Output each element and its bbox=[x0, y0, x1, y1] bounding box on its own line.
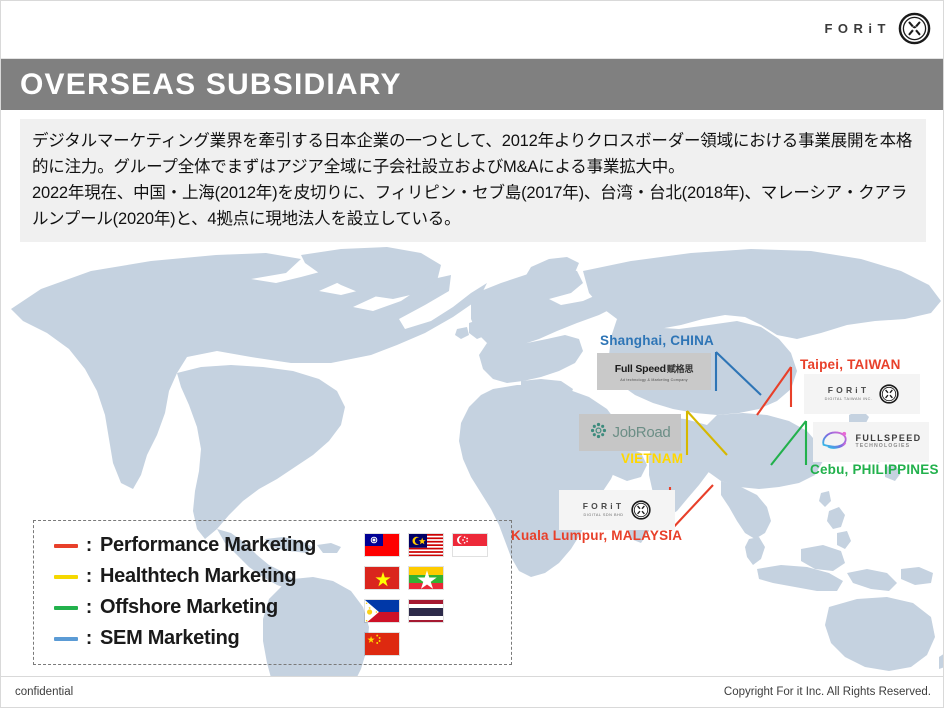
legend-separator: : bbox=[78, 535, 100, 557]
fullspeed-tech-subtitle: TECHNOLOGIES bbox=[855, 444, 921, 449]
flag-slot-empty bbox=[452, 632, 488, 656]
flag-slot-empty bbox=[408, 632, 444, 656]
brand-word-t: T bbox=[878, 22, 891, 35]
brand-wordmark: FORiT bbox=[824, 22, 891, 35]
legend-separator: : bbox=[78, 597, 100, 619]
legend-separator: : bbox=[78, 628, 100, 650]
logo-card-forit-taiwan: FORiT DIGITAL TAIWAN INC. bbox=[804, 374, 920, 414]
callout-label-shanghai: Shanghai, CHINA bbox=[600, 333, 714, 348]
fullspeed-swoosh-icon bbox=[820, 428, 850, 456]
page-title: OVERSEAS SUBSIDIARY bbox=[1, 68, 402, 102]
callout-label-taipei: Taipei, TAIWAN bbox=[800, 357, 901, 372]
vietnam-flag-icon bbox=[364, 566, 400, 590]
callout-label-vietnam: VIETNAM bbox=[621, 451, 683, 466]
malaysia-flag-icon bbox=[408, 533, 444, 557]
legend-dash-green bbox=[54, 606, 78, 610]
jobroad-wordmark: JobRoad bbox=[613, 424, 671, 441]
forit-circle-mark-icon bbox=[898, 12, 931, 45]
singapore-flag-icon bbox=[452, 533, 488, 557]
forit-taiwan-subtitle: DIGITAL TAIWAN INC. bbox=[825, 398, 873, 402]
forit-circle-mark-icon bbox=[879, 384, 899, 404]
flag-slot-empty bbox=[452, 566, 488, 590]
brand-word-for: FOR bbox=[824, 22, 868, 35]
legend-flag-grid bbox=[364, 533, 490, 661]
logo-card-full-speed: Full Speed赋格思 Ad technology & Marketing … bbox=[597, 353, 711, 390]
full-speed-cn-name: 赋格思 bbox=[667, 365, 693, 374]
legend-label: SEM Marketing bbox=[100, 627, 239, 650]
forit-malaysia-wordmark: FORiT bbox=[583, 502, 625, 511]
slide-footer: confidential Copyright For it Inc. All R… bbox=[1, 676, 944, 707]
logo-card-forit-malaysia: FORiT DIGITAL SDN BHD bbox=[559, 490, 675, 530]
footer-copyright-label: Copyright For it Inc. All Rights Reserve… bbox=[724, 686, 931, 698]
callout-label-malaysia: Kuala Lumpur, MALAYSIA bbox=[511, 528, 682, 543]
legend-dash-blue bbox=[54, 637, 78, 641]
leader-malaysia-line bbox=[670, 485, 713, 531]
legend-dash-red bbox=[54, 544, 78, 548]
callout-label-cebu: Cebu, PHILIPPINES bbox=[810, 462, 939, 477]
philippines-flag-icon bbox=[364, 599, 400, 623]
legend-box: : Performance Marketing : Healthtech Mar… bbox=[33, 520, 512, 665]
lead-paragraph: デジタルマーケティング業界を牽引する日本企業の一つとして、2012年よりクロスボ… bbox=[20, 119, 926, 242]
slide-canvas: FORiT OVERSEAS SUBSIDIARY デジタルマーケティング業界を… bbox=[0, 0, 944, 708]
logo-card-jobroad: JobRoad bbox=[579, 414, 681, 451]
legend-separator: : bbox=[78, 566, 100, 588]
taiwan-flag-icon bbox=[364, 533, 400, 557]
forit-brand-logo: FORiT bbox=[824, 12, 931, 45]
flag-slot-empty bbox=[452, 599, 488, 623]
legend-label: Healthtech Marketing bbox=[100, 565, 296, 588]
forit-circle-mark-icon bbox=[631, 500, 651, 520]
leader-taipei-line bbox=[757, 367, 791, 415]
full-speed-wordmark: Full Speed bbox=[615, 364, 666, 375]
leader-shanghai-line bbox=[716, 352, 761, 395]
leader-cebu-line bbox=[771, 421, 806, 465]
slide-header: FORiT bbox=[1, 1, 944, 59]
forit-malaysia-subtitle: DIGITAL SDN BHD bbox=[583, 514, 625, 518]
footer-confidential-label: confidential bbox=[15, 686, 73, 698]
title-band: OVERSEAS SUBSIDIARY bbox=[1, 59, 944, 110]
thailand-flag-icon bbox=[408, 599, 444, 623]
fullspeed-tech-wordmark: FULLSPEED bbox=[855, 434, 921, 443]
china-flag-icon bbox=[364, 632, 400, 656]
jobroad-flower-icon bbox=[590, 422, 607, 444]
full-speed-tagline: Ad technology & Marketing Company bbox=[615, 379, 694, 383]
brand-word-i: i bbox=[868, 22, 877, 35]
legend-label: Performance Marketing bbox=[100, 534, 316, 557]
myanmar-flag-icon bbox=[408, 566, 444, 590]
legend-label: Offshore Marketing bbox=[100, 596, 278, 619]
legend-dash-yellow bbox=[54, 575, 78, 579]
forit-taiwan-wordmark: FORiT bbox=[828, 386, 870, 395]
logo-card-fullspeed-technologies: FULLSPEED TECHNOLOGIES bbox=[813, 422, 929, 462]
leader-vietnam-line bbox=[687, 411, 727, 455]
